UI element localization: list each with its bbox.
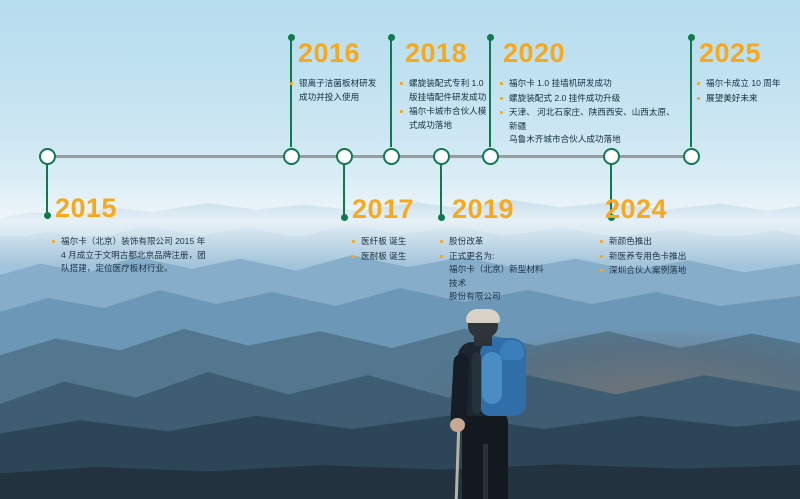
timeline-node-2018[interactable]: [383, 148, 400, 165]
year-label-2020: 2020: [503, 40, 565, 67]
year-label-2016: 2016: [298, 40, 360, 67]
event-item: 股份改革: [440, 235, 550, 249]
timeline-axis: [47, 155, 695, 158]
hiker-figure: [436, 312, 556, 499]
year-label-2024: 2024: [605, 196, 667, 223]
event-details-2019: 股份改革正式更名为: 福尔卡（北京）新型材料技术 股份有限公司: [440, 235, 550, 305]
timeline-stem-cap-2016: [288, 34, 295, 41]
event-item: 福尔卡 1.0 挂墙机研发成功: [500, 77, 678, 91]
event-details-2015: 福尔卡（北京）装饰有限公司 2015 年 4 月成立于文明古都北京品牌注册，团 …: [52, 235, 227, 277]
event-item: 福尔卡城市合伙人模 式成功落地: [400, 105, 512, 132]
year-label-2025: 2025: [699, 40, 761, 67]
backpack-top: [500, 340, 524, 360]
timeline-node-2025[interactable]: [683, 148, 700, 165]
timeline-node-2020[interactable]: [482, 148, 499, 165]
event-details-2016: 银离子洁菌板材研发 成功并投入使用: [290, 77, 395, 105]
timeline-stem-2017: [343, 163, 345, 218]
backpack-strap: [472, 352, 481, 414]
hiking-pole: [455, 424, 461, 499]
hiker-leg-split: [483, 444, 488, 499]
year-label-2019: 2019: [452, 196, 514, 223]
event-details-2020: 福尔卡 1.0 挂墙机研发成功螺旋装配式 2.0 挂件成功升级天津、 河北石家庄…: [500, 77, 678, 148]
event-details-2025: 福尔卡成立 10 周年展望美好未来: [697, 77, 800, 106]
event-item: 天津、 河北石家庄、陕西西安、山西太原、新疆 乌鲁木齐城市合伙人成功落地: [500, 106, 678, 147]
timeline-stem-cap-2015: [44, 212, 51, 219]
timeline-stem-cap-2017: [341, 214, 348, 221]
event-details-2024: 新颜色推出新医养专用色卡推出深圳合伙人案例落地: [600, 235, 730, 279]
year-label-2018: 2018: [405, 40, 467, 67]
event-item: 银离子洁菌板材研发 成功并投入使用: [290, 77, 395, 104]
hiker-hand: [450, 418, 465, 432]
event-item: 新颜色推出: [600, 235, 730, 249]
event-item: 福尔卡成立 10 周年: [697, 77, 800, 91]
timeline-stem-2015: [46, 163, 48, 216]
timeline-stem-cap-2018: [388, 34, 395, 41]
event-item: 展望美好未来: [697, 92, 800, 106]
event-item: 新医养专用色卡推出: [600, 250, 730, 264]
timeline-stem-cap-2019: [438, 214, 445, 221]
year-label-2015: 2015: [55, 195, 117, 222]
event-item: 正式更名为: 福尔卡（北京）新型材料技术 股份有限公司: [440, 250, 550, 304]
timeline-node-2016[interactable]: [283, 148, 300, 165]
timeline-stem-cap-2020: [487, 34, 494, 41]
timeline-stem-2025: [690, 37, 692, 147]
event-item: 螺旋装配式专利 1.0 版挂墙配件研发成功: [400, 77, 512, 104]
timeline-infographic: 2015福尔卡（北京）装饰有限公司 2015 年 4 月成立于文明古都北京品牌注…: [0, 0, 800, 499]
timeline-stem-cap-2025: [688, 34, 695, 41]
event-details-2018: 螺旋装配式专利 1.0 版挂墙配件研发成功福尔卡城市合伙人模 式成功落地: [400, 77, 512, 133]
year-label-2017: 2017: [352, 196, 414, 223]
event-item: 福尔卡（北京）装饰有限公司 2015 年 4 月成立于文明古都北京品牌注册，团 …: [52, 235, 227, 276]
backpack-panel: [482, 352, 502, 404]
event-item: 螺旋装配式 2.0 挂件成功升级: [500, 92, 678, 106]
event-item: 深圳合伙人案例落地: [600, 264, 730, 278]
hiker-cap: [466, 309, 500, 323]
timeline-stem-2019: [440, 163, 442, 218]
